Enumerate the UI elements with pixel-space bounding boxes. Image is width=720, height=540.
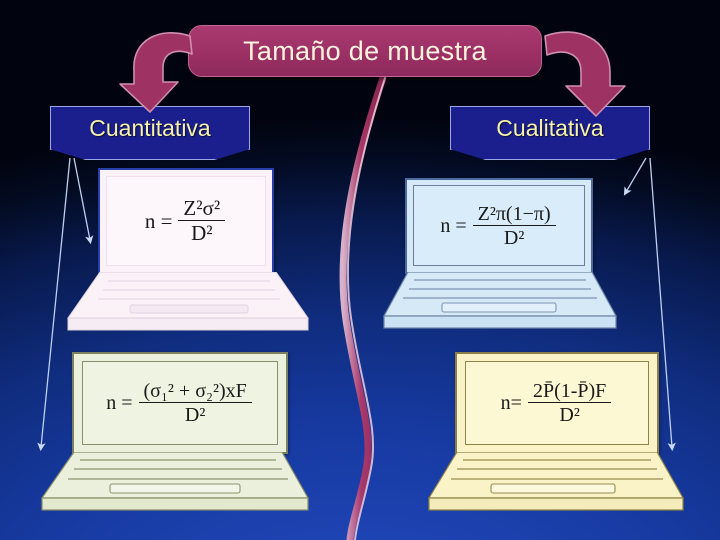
slide-canvas: Tamaño de muestra Cuantitativa Cualitati… <box>0 0 720 540</box>
formula-cualitativa-dos-proporciones: n= 2P̄(1-P̄)F D² <box>501 381 614 425</box>
category-label-text: Cuantitativa <box>89 115 210 142</box>
laptop-icon-bottom-left: n = (σ₁² + σ₂²)xF D² <box>38 352 310 530</box>
formula-numerator: 2P̄(1-P̄)F <box>528 381 611 403</box>
formula-cuantitativa-una-media: n = Z²σ² D² <box>145 198 227 244</box>
formula-numerator: (σ₁² + σ₂²)xF <box>139 381 252 403</box>
category-label-text: Cualitativa <box>496 115 603 142</box>
curved-arrow-down-right-icon <box>545 32 625 116</box>
formula-denominator: D² <box>499 226 529 248</box>
laptop-screen-bottom-left: n = (σ₁² + σ₂²)xF D² <box>82 361 278 445</box>
page-title: Tamaño de muestra <box>188 25 542 77</box>
formula-fraction: Z²π(1−π) D² <box>473 204 556 248</box>
formula-fraction: Z²σ² D² <box>178 198 225 244</box>
laptop-screen-top-right: n = Z²π(1−π) D² <box>413 185 585 266</box>
formula-denominator: D² <box>180 403 210 425</box>
formula-denominator: D² <box>554 403 584 425</box>
formula-fraction: (σ₁² + σ₂²)xF D² <box>139 381 252 425</box>
formula-fraction: 2P̄(1-P̄)F D² <box>528 381 611 425</box>
formula-denominator: D² <box>186 221 217 244</box>
curved-arrow-down-left-icon <box>120 33 192 112</box>
category-label-cuantitativa[interactable]: Cuantitativa <box>50 106 250 150</box>
laptop-base <box>380 272 618 342</box>
laptop-icon-top-left: n = Z²σ² D² <box>60 168 310 343</box>
formula-lhs: n = <box>440 216 466 236</box>
laptop-base <box>425 452 687 528</box>
page-title-text: Tamaño de muestra <box>243 36 487 67</box>
category-label-cualitativa[interactable]: Cualitativa <box>450 106 650 150</box>
formula-lhs: n= <box>501 393 522 413</box>
formula-lhs: n = <box>106 393 132 413</box>
laptop-screen-top-left: n = Z²σ² D² <box>106 176 266 266</box>
formula-numerator: Z²π(1−π) <box>473 204 556 226</box>
formula-lhs: n = <box>145 211 173 232</box>
laptop-icon-top-right: n = Z²π(1−π) D² <box>380 178 618 340</box>
formula-numerator: Z²σ² <box>178 198 225 221</box>
laptop-base <box>60 272 310 344</box>
formula-cuantitativa-dos-medias: n = (σ₁² + σ₂²)xF D² <box>106 381 254 425</box>
laptop-base <box>38 452 310 530</box>
formula-cualitativa-una-proporcion: n = Z²π(1−π) D² <box>440 204 557 248</box>
laptop-icon-bottom-right: n= 2P̄(1-P̄)F D² <box>425 352 687 528</box>
laptop-screen-bottom-right: n= 2P̄(1-P̄)F D² <box>465 361 649 445</box>
thin-arrow-icon <box>626 158 646 192</box>
